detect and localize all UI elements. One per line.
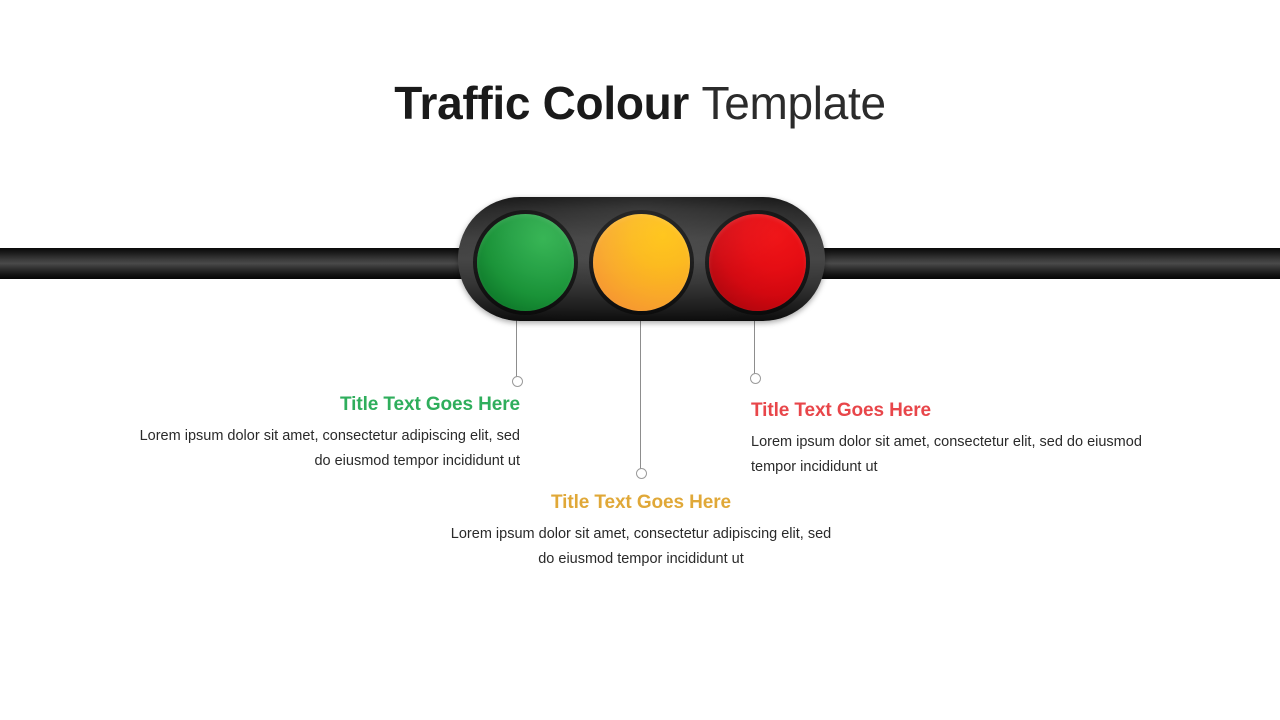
leader-line-green bbox=[516, 320, 517, 380]
text-block-red: Title Text Goes Here Lorem ipsum dolor s… bbox=[751, 399, 1151, 480]
red-lamp-icon[interactable] bbox=[709, 214, 806, 311]
block-body-red: Lorem ipsum dolor sit amet, consectetur … bbox=[751, 430, 1151, 480]
page-title-bold: Traffic Colour bbox=[394, 77, 689, 129]
traffic-light-housing bbox=[458, 197, 825, 321]
green-lamp-icon[interactable] bbox=[477, 214, 574, 311]
leader-dot-red bbox=[750, 373, 761, 384]
block-body-green: Lorem ipsum dolor sit amet, consectetur … bbox=[120, 424, 520, 474]
block-title-amber: Title Text Goes Here bbox=[441, 491, 841, 515]
leader-line-amber bbox=[640, 320, 641, 472]
text-block-green: Title Text Goes Here Lorem ipsum dolor s… bbox=[120, 393, 520, 474]
page-title-light: Template bbox=[702, 77, 886, 129]
block-body-amber: Lorem ipsum dolor sit amet, consectetur … bbox=[441, 522, 841, 572]
leader-line-red bbox=[754, 320, 755, 376]
block-title-red: Title Text Goes Here bbox=[751, 399, 1151, 423]
block-title-green: Title Text Goes Here bbox=[120, 393, 520, 417]
leader-dot-green bbox=[512, 376, 523, 387]
amber-lamp-icon[interactable] bbox=[593, 214, 690, 311]
page-title: Traffic Colour Template bbox=[0, 72, 1280, 134]
text-block-amber: Title Text Goes Here Lorem ipsum dolor s… bbox=[441, 491, 841, 572]
page-title-light-spacer bbox=[689, 77, 701, 129]
leader-dot-amber bbox=[636, 468, 647, 479]
